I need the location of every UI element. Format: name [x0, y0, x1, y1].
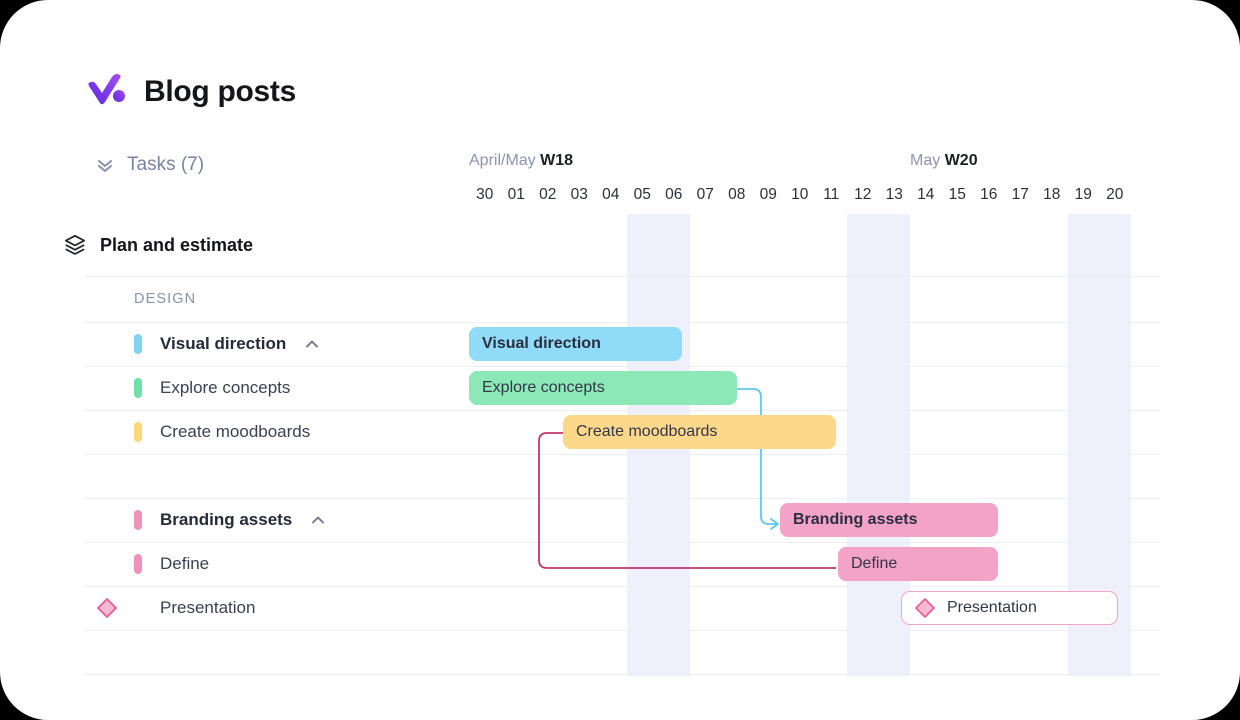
- day-tick: 09: [753, 186, 785, 204]
- milestone-bar[interactable]: Presentation: [901, 591, 1118, 625]
- week-number: W18: [540, 152, 573, 169]
- day-tick: 14: [910, 186, 942, 204]
- gantt-bar-label: Visual direction: [482, 335, 601, 353]
- day-tick: 05: [627, 186, 659, 204]
- milestone-label: Presentation: [947, 599, 1037, 617]
- gantt-bar[interactable]: Create moodboards: [563, 415, 836, 449]
- gantt-bar-label: Define: [851, 555, 897, 573]
- day-tick: 07: [690, 186, 722, 204]
- week-number: W20: [945, 152, 978, 169]
- page-header: Blog posts: [84, 70, 296, 114]
- day-tick: 15: [942, 186, 974, 204]
- tasks-toggle[interactable]: Tasks (7): [95, 154, 204, 176]
- gantt-bar[interactable]: Branding assets: [780, 503, 998, 537]
- day-tick: 19: [1068, 186, 1100, 204]
- app-window: Blog posts Tasks (7) April/May W18 May W…: [0, 0, 1240, 720]
- week-month: April/May: [469, 152, 536, 169]
- gantt-bar[interactable]: Visual direction: [469, 327, 682, 361]
- gantt-bar-label: Create moodboards: [576, 423, 717, 441]
- day-tick: 18: [1036, 186, 1068, 204]
- gantt-bar-label: Explore concepts: [482, 379, 605, 397]
- checkmark-dot-logo: [84, 70, 128, 114]
- week-label-w18: April/May W18: [469, 152, 573, 170]
- timeline-header: April/May W18 May W20 300102030405060708…: [469, 152, 1161, 214]
- week-month: May: [910, 152, 940, 169]
- day-ticks: 3001020304050607080910111213141516171819…: [469, 186, 1161, 210]
- day-tick: 13: [879, 186, 911, 204]
- double-chevron-down-icon[interactable]: [95, 155, 115, 175]
- milestone-diamond-icon: [914, 597, 936, 619]
- gantt-bar[interactable]: Define: [838, 547, 998, 581]
- tasks-count-label: Tasks (7): [127, 154, 204, 176]
- page-title: Blog posts: [144, 75, 296, 109]
- day-tick: 17: [1005, 186, 1037, 204]
- gantt-bars: Visual directionExplore conceptsCreate m…: [0, 214, 1240, 676]
- day-tick: 03: [564, 186, 596, 204]
- day-tick: 01: [501, 186, 533, 204]
- gantt-bar[interactable]: Explore concepts: [469, 371, 737, 405]
- day-tick: 06: [658, 186, 690, 204]
- week-label-w20: May W20: [910, 152, 978, 170]
- day-tick: 11: [816, 186, 848, 204]
- day-tick: 12: [847, 186, 879, 204]
- day-tick: 16: [973, 186, 1005, 204]
- day-tick: 30: [469, 186, 501, 204]
- day-tick: 10: [784, 186, 816, 204]
- gantt-bar-label: Branding assets: [793, 511, 917, 529]
- day-tick: 04: [595, 186, 627, 204]
- day-tick: 20: [1099, 186, 1131, 204]
- day-tick: 08: [721, 186, 753, 204]
- day-tick: 02: [532, 186, 564, 204]
